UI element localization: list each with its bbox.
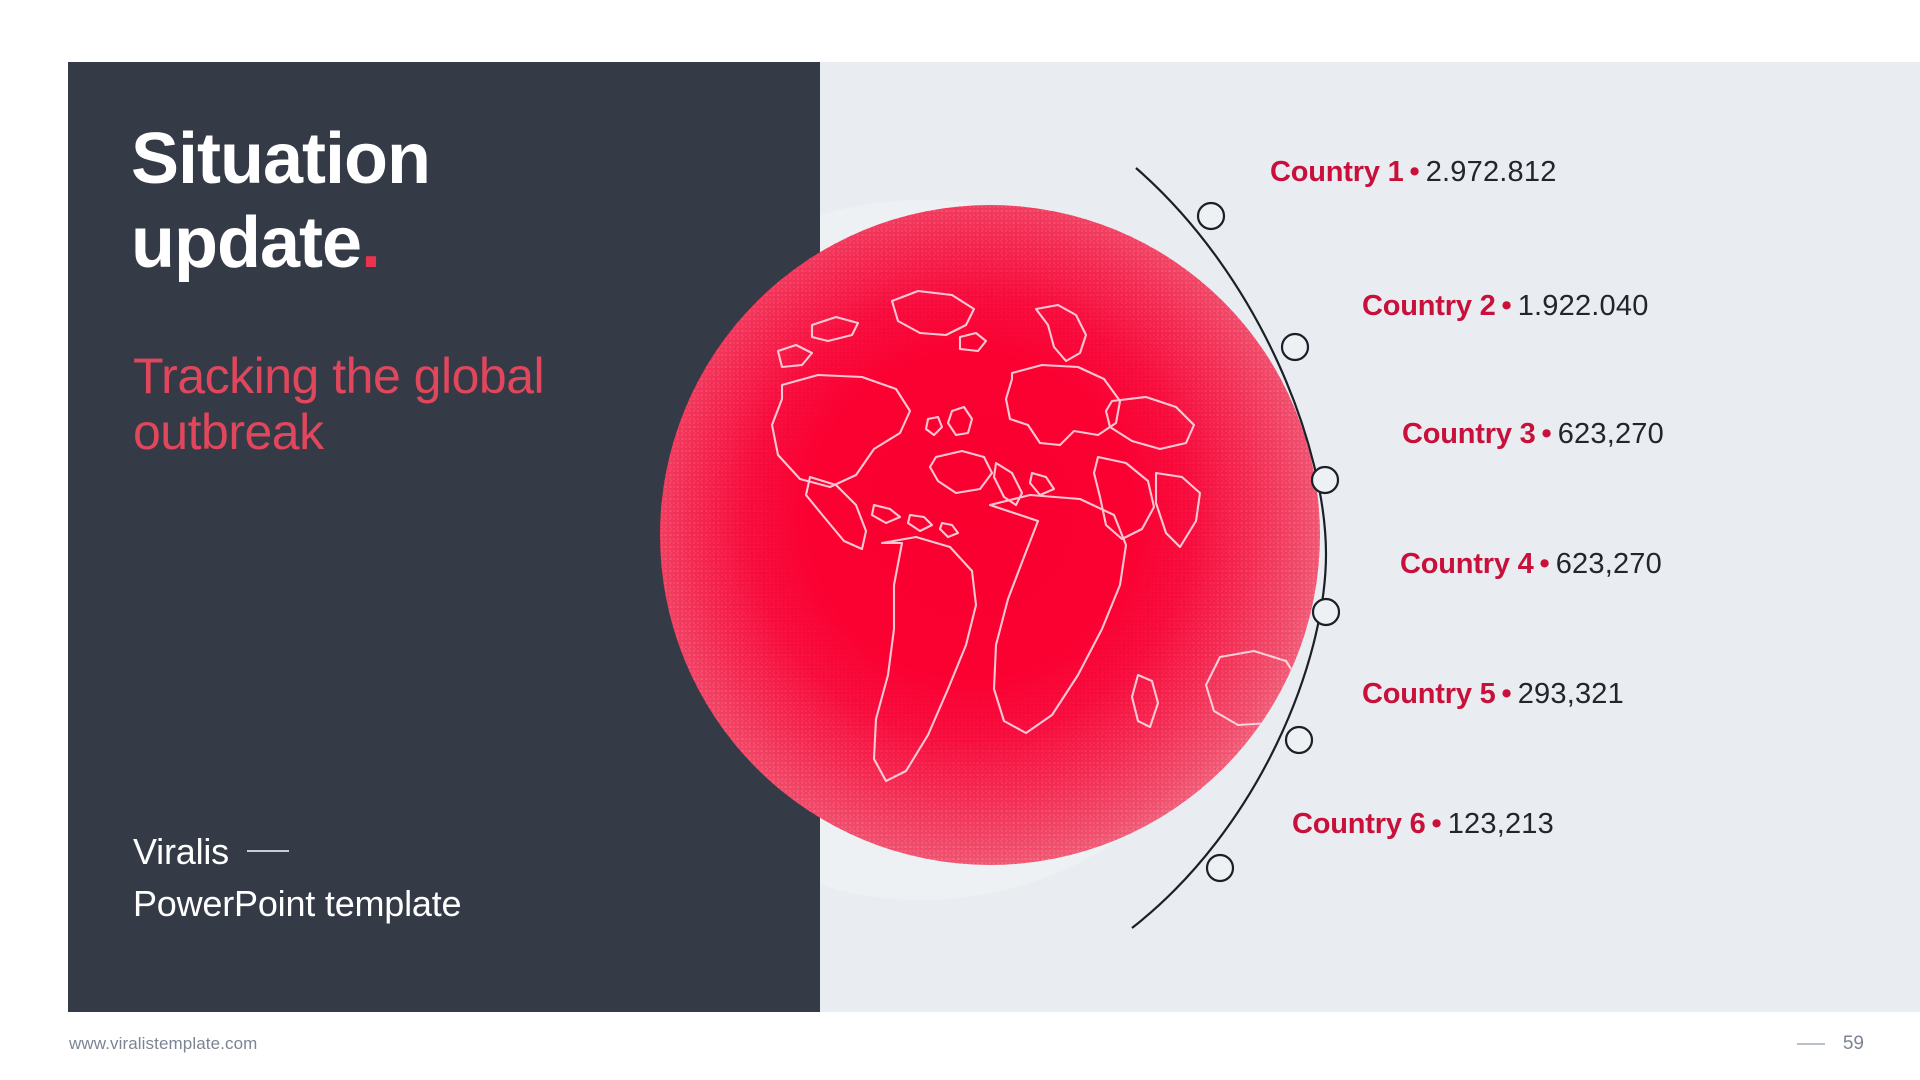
- legend-country-name: Country 1: [1270, 156, 1404, 188]
- footer-website-url[interactable]: www.viralistemplate.com: [69, 1034, 257, 1054]
- legend-country-value: 623,270: [1558, 418, 1664, 450]
- brand-subline: PowerPoint template: [133, 883, 461, 924]
- legend-row-2[interactable]: Country 2•1.922.040: [1362, 292, 1649, 321]
- brand-rule-icon: [247, 850, 289, 852]
- page-title-line2: update: [131, 203, 361, 283]
- brand-block: Viralis PowerPoint template: [133, 826, 461, 930]
- legend-bullet-icon: •: [1496, 290, 1518, 322]
- legend-row-1[interactable]: Country 1•2.972.812: [1270, 158, 1557, 187]
- legend-country-name: Country 4: [1400, 548, 1534, 580]
- legend-country-value: 623,270: [1556, 548, 1662, 580]
- legend-bullet-icon: •: [1426, 808, 1448, 840]
- page-title-line1: Situation: [131, 119, 430, 199]
- page-number-value: 59: [1843, 1033, 1864, 1055]
- legend-bullet-icon: •: [1404, 156, 1426, 188]
- legend-country-value: 1.922.040: [1518, 290, 1649, 322]
- legend-country-name: Country 5: [1362, 678, 1496, 710]
- globe-graphic: [660, 205, 1320, 865]
- slide-canvas: Situation update. Tracking the global ou…: [0, 0, 1920, 1080]
- title-accent-dot: .: [361, 203, 380, 283]
- brand-name: Viralis: [133, 831, 229, 872]
- footer-page-number: 59: [1797, 1033, 1864, 1055]
- legend-country-name: Country 3: [1402, 418, 1536, 450]
- legend-row-5[interactable]: Country 5•293,321: [1362, 680, 1624, 709]
- page-subtitle: Tracking the global outbreak: [133, 348, 553, 460]
- legend-country-value: 123,213: [1448, 808, 1554, 840]
- page-dash-icon: [1797, 1043, 1825, 1045]
- legend-bullet-icon: •: [1496, 678, 1518, 710]
- legend-bullet-icon: •: [1534, 548, 1556, 580]
- legend-country-value: 293,321: [1518, 678, 1624, 710]
- legend-bullet-icon: •: [1536, 418, 1558, 450]
- country-legend: Country 1•2.972.812 Country 2•1.922.040 …: [1270, 150, 1910, 940]
- page-title: Situation update.: [131, 118, 691, 285]
- globe-grain-texture: [660, 205, 1320, 865]
- legend-row-3[interactable]: Country 3•623,270: [1402, 420, 1664, 449]
- legend-row-4[interactable]: Country 4•623,270: [1400, 550, 1662, 579]
- legend-row-6[interactable]: Country 6•123,213: [1292, 810, 1554, 839]
- legend-country-name: Country 6: [1292, 808, 1426, 840]
- legend-country-value: 2.972.812: [1426, 156, 1557, 188]
- legend-country-name: Country 2: [1362, 290, 1496, 322]
